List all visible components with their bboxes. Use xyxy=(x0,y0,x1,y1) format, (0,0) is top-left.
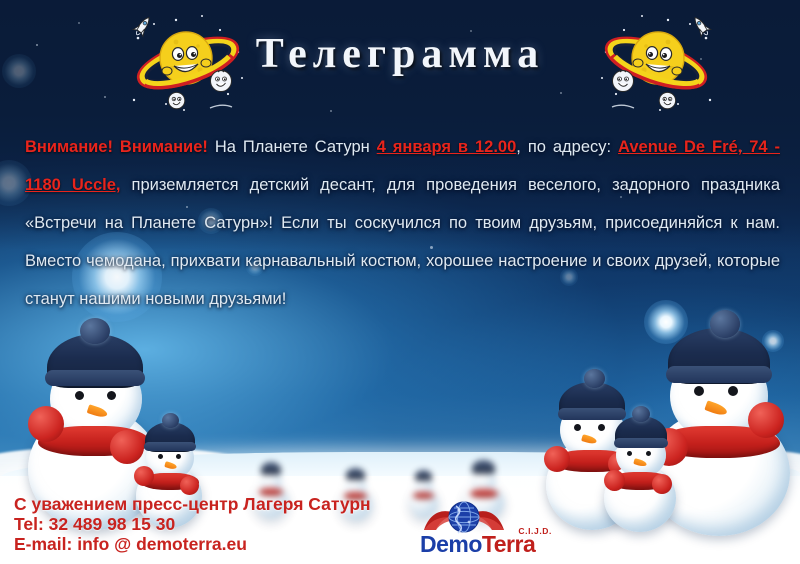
snowman-scarf-pompom-left xyxy=(604,470,625,491)
snowman-eye-left xyxy=(574,424,581,431)
logo-word-demo: Demo xyxy=(420,531,482,557)
intro-text: На Планете Сатурн xyxy=(208,138,377,156)
snowman-eye-left xyxy=(75,391,84,400)
footer-contact-block: С уважением пресс-центр Лагеря Сатурн Te… xyxy=(14,494,371,554)
footer-signature: С уважением пресс-центр Лагеря Сатурн xyxy=(14,494,371,514)
snowman-hat-pompom xyxy=(80,318,110,344)
snowman-hat-brim xyxy=(614,438,668,448)
snowman-eye-left xyxy=(158,454,163,459)
snowman-hat-brim xyxy=(666,366,772,383)
snowman-eye-right xyxy=(646,451,651,456)
snowman-eye-left xyxy=(694,386,704,396)
logo-globe-icon xyxy=(449,502,479,533)
snowman-scarf-pompom-left xyxy=(544,446,570,472)
snowman-eye-left xyxy=(627,451,632,456)
snowman-eye-right xyxy=(176,454,181,459)
attention-label: Внимание! Внимание! xyxy=(25,138,208,156)
snowman-eye-right xyxy=(107,391,116,400)
snowman-scarf-pompom-right xyxy=(180,476,199,495)
snowman-right-small xyxy=(598,414,684,532)
snowman-hat-pompom xyxy=(162,413,179,428)
snowman-hat-pompom xyxy=(632,406,650,422)
snowman-hat-brim xyxy=(45,370,145,386)
demoterra-logo[interactable]: C.I.J.D. DemoTerra xyxy=(420,502,550,556)
footer-email[interactable]: E-mail: info @ demoterra.eu xyxy=(14,534,371,554)
comet-trail xyxy=(210,105,232,108)
footer-phone[interactable]: Tel: 32 489 98 15 30 xyxy=(14,514,371,534)
page-title: Телеграмма xyxy=(0,30,800,78)
logo-word-terra: Terra xyxy=(482,531,535,557)
snowman-hat-pompom xyxy=(710,310,740,338)
announcement-text: Внимание! Внимание! На Планете Сатурн 4 … xyxy=(25,128,780,318)
snowman-eye-right xyxy=(728,386,738,396)
snowman-scarf-pompom-left xyxy=(28,406,64,442)
moon-face-small-b xyxy=(168,92,184,108)
snowman-scarf-pompom-left xyxy=(134,466,154,486)
logo-wordmark: DemoTerra xyxy=(420,531,535,558)
poster-canvas: Телеграмма Внимание! Внимание! На Планет… xyxy=(0,0,800,564)
snowman-scarf-pompom-right xyxy=(652,474,672,494)
event-date: 4 января в 12.00 xyxy=(377,138,517,156)
address-lead-in: , по адресу: xyxy=(516,138,618,156)
announcement-body: приземляется детский десант, для проведе… xyxy=(25,176,780,308)
snowman-scarf-pompom-right xyxy=(748,402,784,438)
snowman-hat-brim xyxy=(144,442,196,451)
snowman-hat-pompom xyxy=(584,369,605,388)
